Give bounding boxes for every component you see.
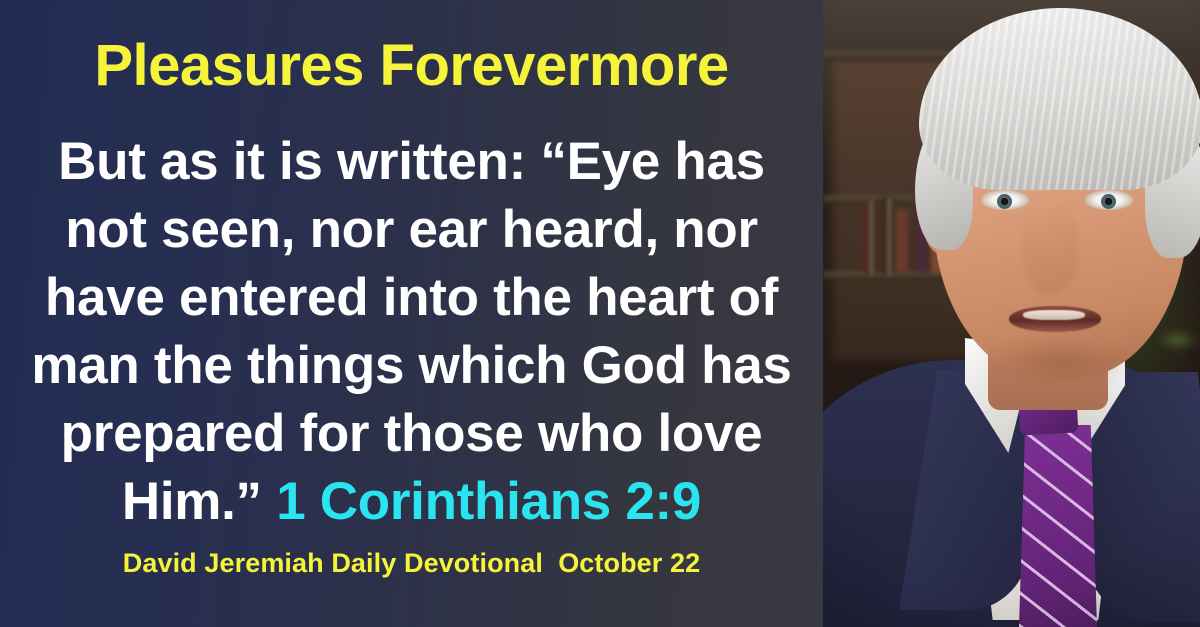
devotional-caption: David Jeremiah Daily Devotional October … <box>0 548 823 579</box>
nose <box>1023 205 1079 295</box>
text-panel: Pleasures Forevermore But as it is writt… <box>0 0 823 627</box>
hair <box>919 8 1200 190</box>
page-title: Pleasures Forevermore <box>0 37 823 95</box>
person-figure <box>823 0 1200 627</box>
necktie <box>1019 425 1097 627</box>
devotional-slide: Pleasures Forevermore But as it is writt… <box>0 0 1200 627</box>
speaker-portrait-photo <box>823 0 1200 627</box>
verse-block: But as it is written: “Eye has not seen,… <box>18 128 805 536</box>
teeth <box>1023 310 1085 320</box>
chin-shadow <box>983 340 1133 386</box>
iris-left <box>997 194 1012 209</box>
iris-right <box>1101 194 1116 209</box>
verse-reference: 1 Corinthians 2:9 <box>276 472 701 531</box>
